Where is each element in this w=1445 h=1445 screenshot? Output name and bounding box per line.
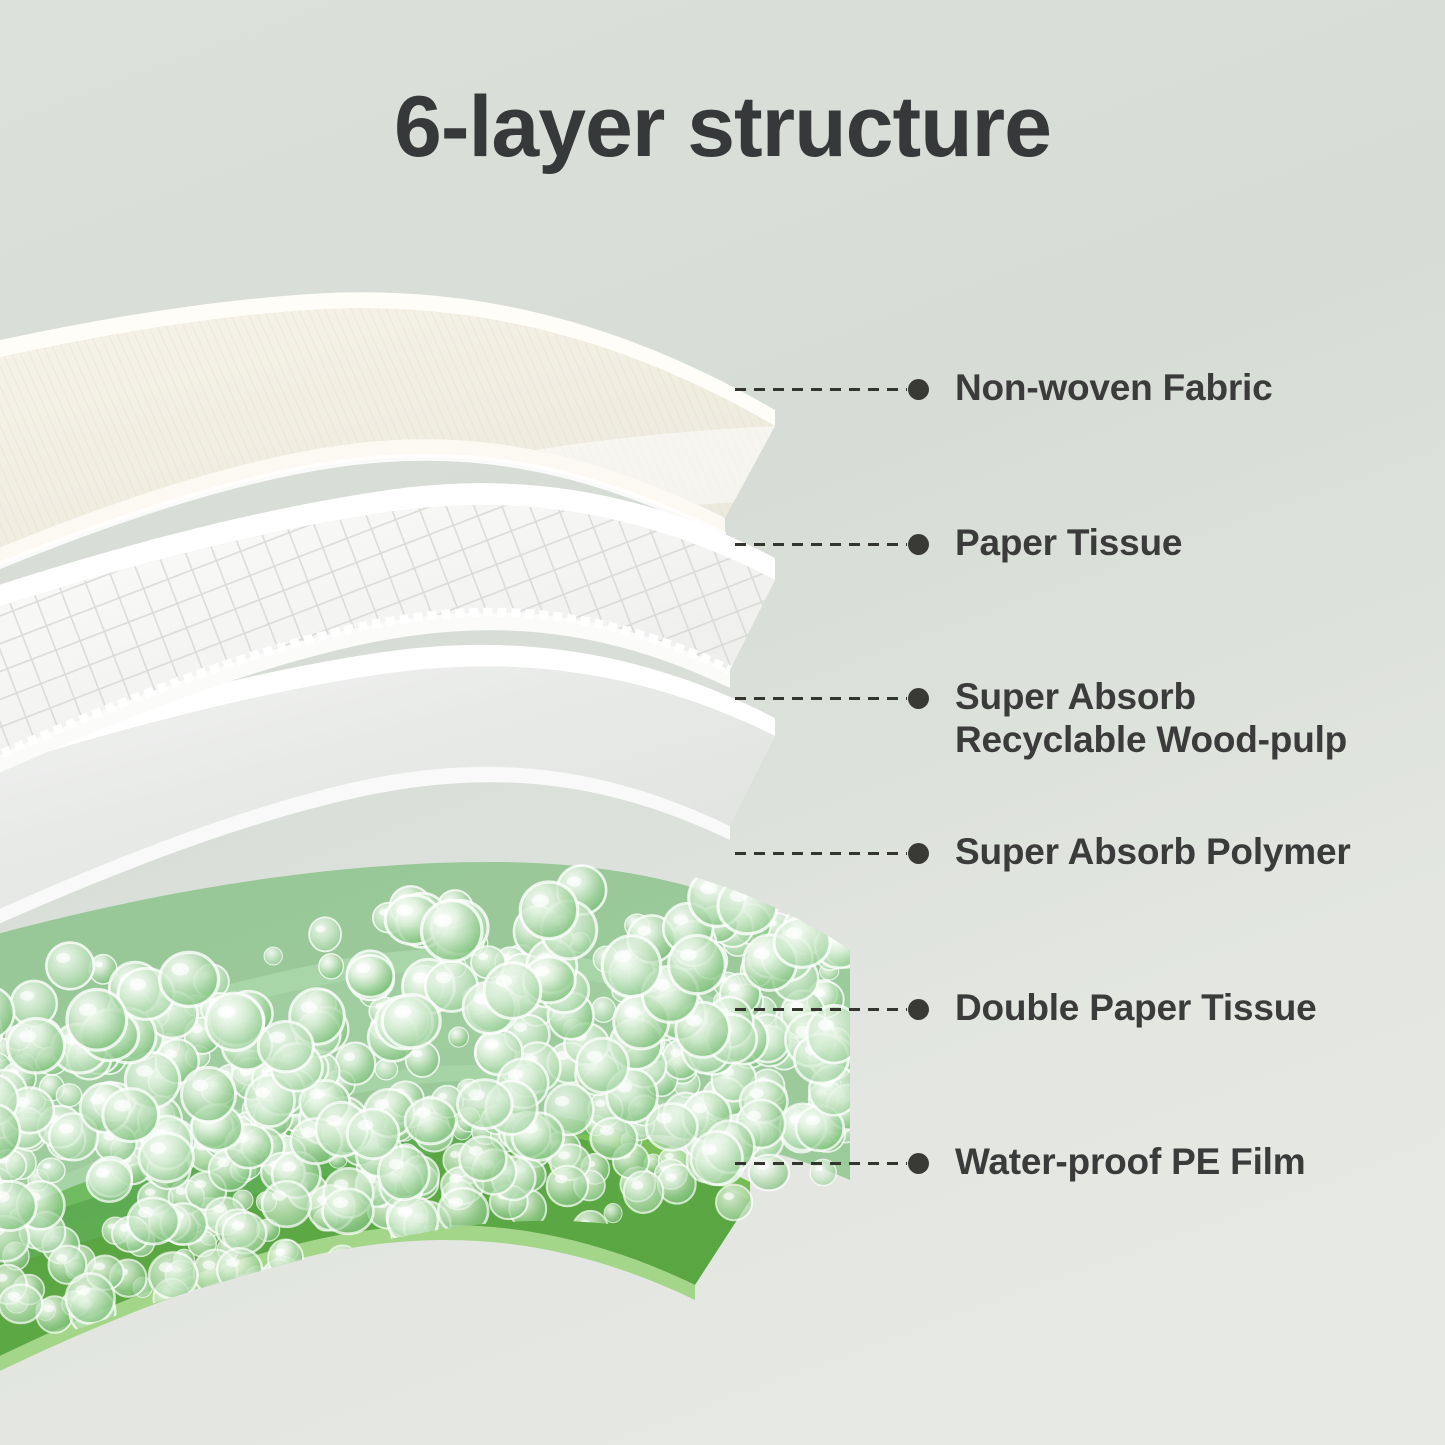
leader-dot-water-proof-pe-film [908, 1153, 929, 1174]
leader-dot-super-absorb-polymer [908, 843, 929, 864]
leader-dot-paper-tissue [908, 534, 929, 555]
leader-line-paper-tissue [735, 543, 907, 546]
layer-graphic-non-woven-fabric [0, 250, 850, 1445]
leader-dot-super-absorb-recyclable-wood-pulp [908, 688, 929, 709]
leader-line-non-woven-fabric [735, 388, 907, 391]
leader-line-super-absorb-recyclable-wood-pulp [735, 697, 907, 700]
leader-dot-non-woven-fabric [908, 379, 929, 400]
leader-dot-double-paper-tissue [908, 999, 929, 1020]
layer-label-paper-tissue: Paper Tissue [955, 521, 1182, 564]
leader-line-double-paper-tissue [735, 1008, 907, 1011]
layer-label-double-paper-tissue: Double Paper Tissue [955, 986, 1317, 1029]
leader-line-water-proof-pe-film [735, 1162, 907, 1165]
leader-line-super-absorb-polymer [735, 852, 907, 855]
product-structure-infographic: 6-layer structure [0, 0, 1445, 1445]
layer-label-non-woven-fabric: Non-woven Fabric [955, 366, 1273, 409]
layer-label-water-proof-pe-film: Water-proof PE Film [955, 1140, 1305, 1183]
layer-label-super-absorb-polymer: Super Absorb Polymer [955, 830, 1351, 873]
page-title: 6-layer structure [0, 78, 1445, 177]
layer-stack-illustration [0, 250, 850, 1445]
layer-label-super-absorb-recyclable-wood-pulp: Super Absorb Recyclable Wood-pulp [955, 675, 1347, 761]
